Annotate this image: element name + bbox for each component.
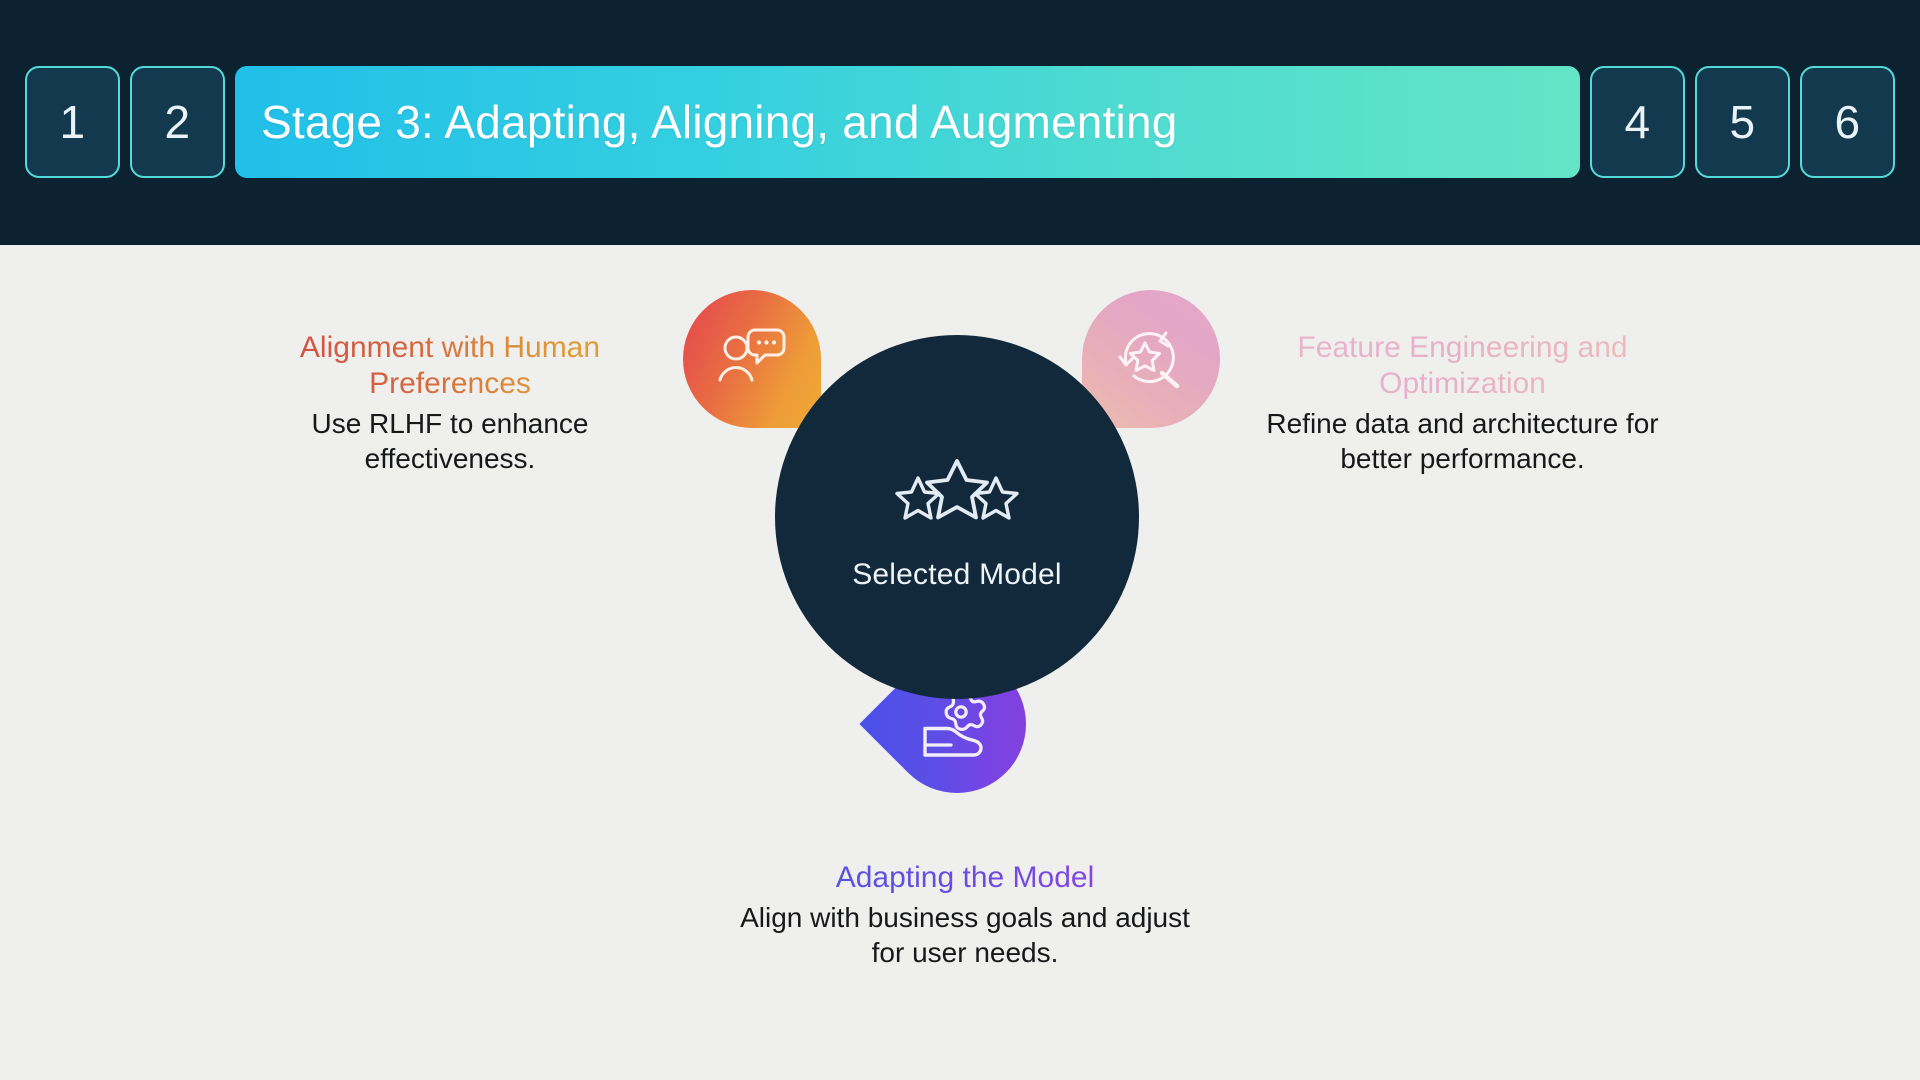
- selected-model-node[interactable]: Selected Model: [775, 335, 1139, 699]
- text-block-feature: Feature Engineering and Optimization Ref…: [1255, 330, 1670, 476]
- adapting-description: Align with business goals and adjust for…: [735, 900, 1195, 970]
- stage-tab-5-label: 5: [1729, 99, 1755, 145]
- stage-navigation: 1 2 Stage 3: Adapting, Aligning, and Aug…: [25, 66, 1895, 178]
- stage-tab-6[interactable]: 6: [1800, 66, 1895, 178]
- star-magnifier-refresh-icon: [1114, 321, 1188, 398]
- stage-tab-5[interactable]: 5: [1695, 66, 1790, 178]
- stage-tab-6-label: 6: [1834, 99, 1860, 145]
- stage-tab-1-label: 1: [59, 99, 85, 145]
- header-bar: 1 2 Stage 3: Adapting, Aligning, and Aug…: [0, 0, 1920, 245]
- adapting-title: Adapting the Model: [735, 860, 1195, 896]
- alignment-title: Alignment with Human Preferences: [250, 330, 650, 402]
- bubble-alignment[interactable]: [683, 290, 821, 428]
- selected-model-label: Selected Model: [852, 558, 1062, 592]
- stage-tab-4[interactable]: 4: [1590, 66, 1685, 178]
- alignment-description: Use RLHF to enhance effectiveness.: [250, 406, 650, 476]
- feature-title: Feature Engineering and Optimization: [1255, 330, 1670, 402]
- stage-tab-4-label: 4: [1624, 99, 1650, 145]
- text-block-adapting: Adapting the Model Align with business g…: [735, 860, 1195, 970]
- stage-tab-1[interactable]: 1: [25, 66, 120, 178]
- gear-shoe-icon: [917, 692, 997, 769]
- stage-tab-2-label: 2: [164, 99, 190, 145]
- feature-description: Refine data and architecture for better …: [1255, 406, 1670, 476]
- text-block-alignment: Alignment with Human Preferences Use RLH…: [250, 330, 650, 476]
- stage-tab-2[interactable]: 2: [130, 66, 225, 178]
- three-stars-icon: [877, 457, 1037, 546]
- person-chat-icon: [715, 324, 789, 395]
- stage-tab-3-active[interactable]: Stage 3: Adapting, Aligning, and Augment…: [235, 66, 1580, 178]
- slide-body: Selected Model: [0, 245, 1920, 1080]
- stage-title: Stage 3: Adapting, Aligning, and Augment…: [261, 99, 1178, 145]
